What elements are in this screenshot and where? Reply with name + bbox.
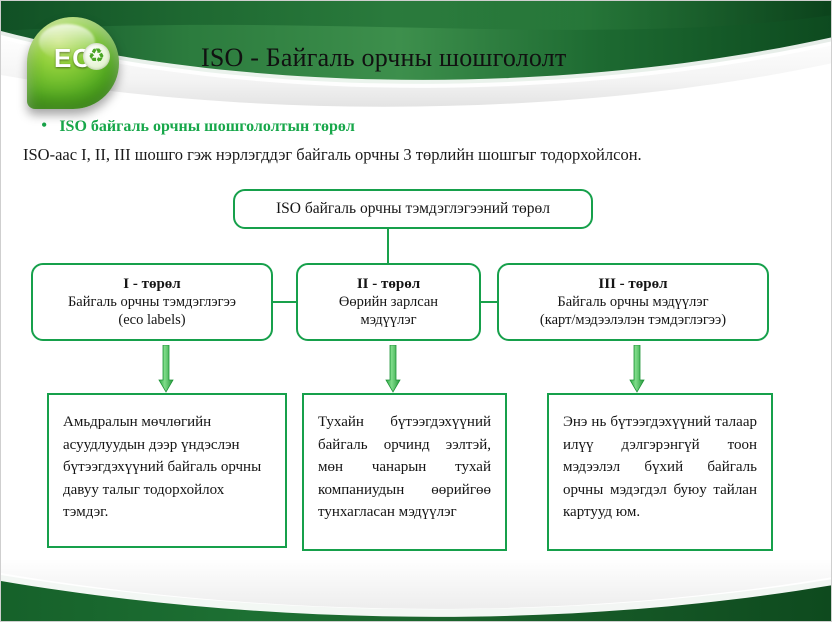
recycle-glyph: ♻ bbox=[83, 43, 110, 70]
bullet-row: • ISO байгаль орчны шошгололтын төрөл bbox=[41, 116, 741, 136]
description-box-2: Тухайн бүтээгдэхүүний байгаль орчинд ээл… bbox=[302, 393, 507, 551]
description-box-1: Амьдралын мөчлөгийн асуудлуудын дээр үнд… bbox=[47, 393, 287, 548]
connector-type2-type3 bbox=[481, 301, 497, 303]
intro-paragraph: ISO-аас I, II, III шошго гэж нэрлэгддэг … bbox=[23, 145, 823, 165]
type-box-3-line3: (карт/мэдээлэлэн тэмдэглэгээ) bbox=[540, 311, 726, 329]
type-box-3-line2: Байгаль орчны мэдүүлэг bbox=[557, 293, 708, 311]
flow-diagram: ISO байгаль орчны тэмдэглэгээний төрөл I… bbox=[1, 1, 832, 622]
type-box-1: I - төрөл Байгаль орчны тэмдэглэгээ (eco… bbox=[31, 263, 273, 341]
type-box-3: III - төрөл Байгаль орчны мэдүүлэг (карт… bbox=[497, 263, 769, 341]
diagram-root-box: ISO байгаль орчны тэмдэглэгээний төрөл bbox=[233, 189, 593, 229]
eco-logo: EC ♻ bbox=[27, 17, 125, 121]
type-box-2-heading: II - төрөл bbox=[357, 275, 420, 294]
connector-type1-type2 bbox=[273, 301, 296, 303]
recycle-icon: ♻ bbox=[83, 43, 110, 70]
type-box-2: II - төрөл Өөрийн зарлсан мэдүүлэг bbox=[296, 263, 481, 341]
type-box-1-line2: Байгаль орчны тэмдэглэгээ bbox=[68, 293, 236, 311]
type-box-1-heading: I - төрөл bbox=[123, 275, 180, 294]
type-box-2-line3: мэдүүлэг bbox=[360, 311, 416, 329]
type-box-3-heading: III - төрөл bbox=[598, 275, 667, 294]
slide-canvas: EC ♻ ISO - Байгаль орчны шошгололт • ISO… bbox=[0, 0, 832, 622]
type-box-2-line2: Өөрийн зарлсан bbox=[339, 293, 438, 311]
description-box-3: Энэ нь бүтээгдэхүүний талаар илүү дэлгэр… bbox=[547, 393, 773, 551]
diagram-root-label: ISO байгаль орчны тэмдэглэгээний төрөл bbox=[276, 199, 550, 218]
connector-root-vertical bbox=[387, 229, 389, 263]
type-box-1-line3: (eco labels) bbox=[118, 311, 185, 329]
arrow-down-2 bbox=[385, 345, 401, 393]
slide-title: ISO - Байгаль орчны шошгололт bbox=[201, 43, 761, 73]
arrow-down-1 bbox=[158, 345, 174, 393]
arrow-down-3 bbox=[629, 345, 645, 393]
